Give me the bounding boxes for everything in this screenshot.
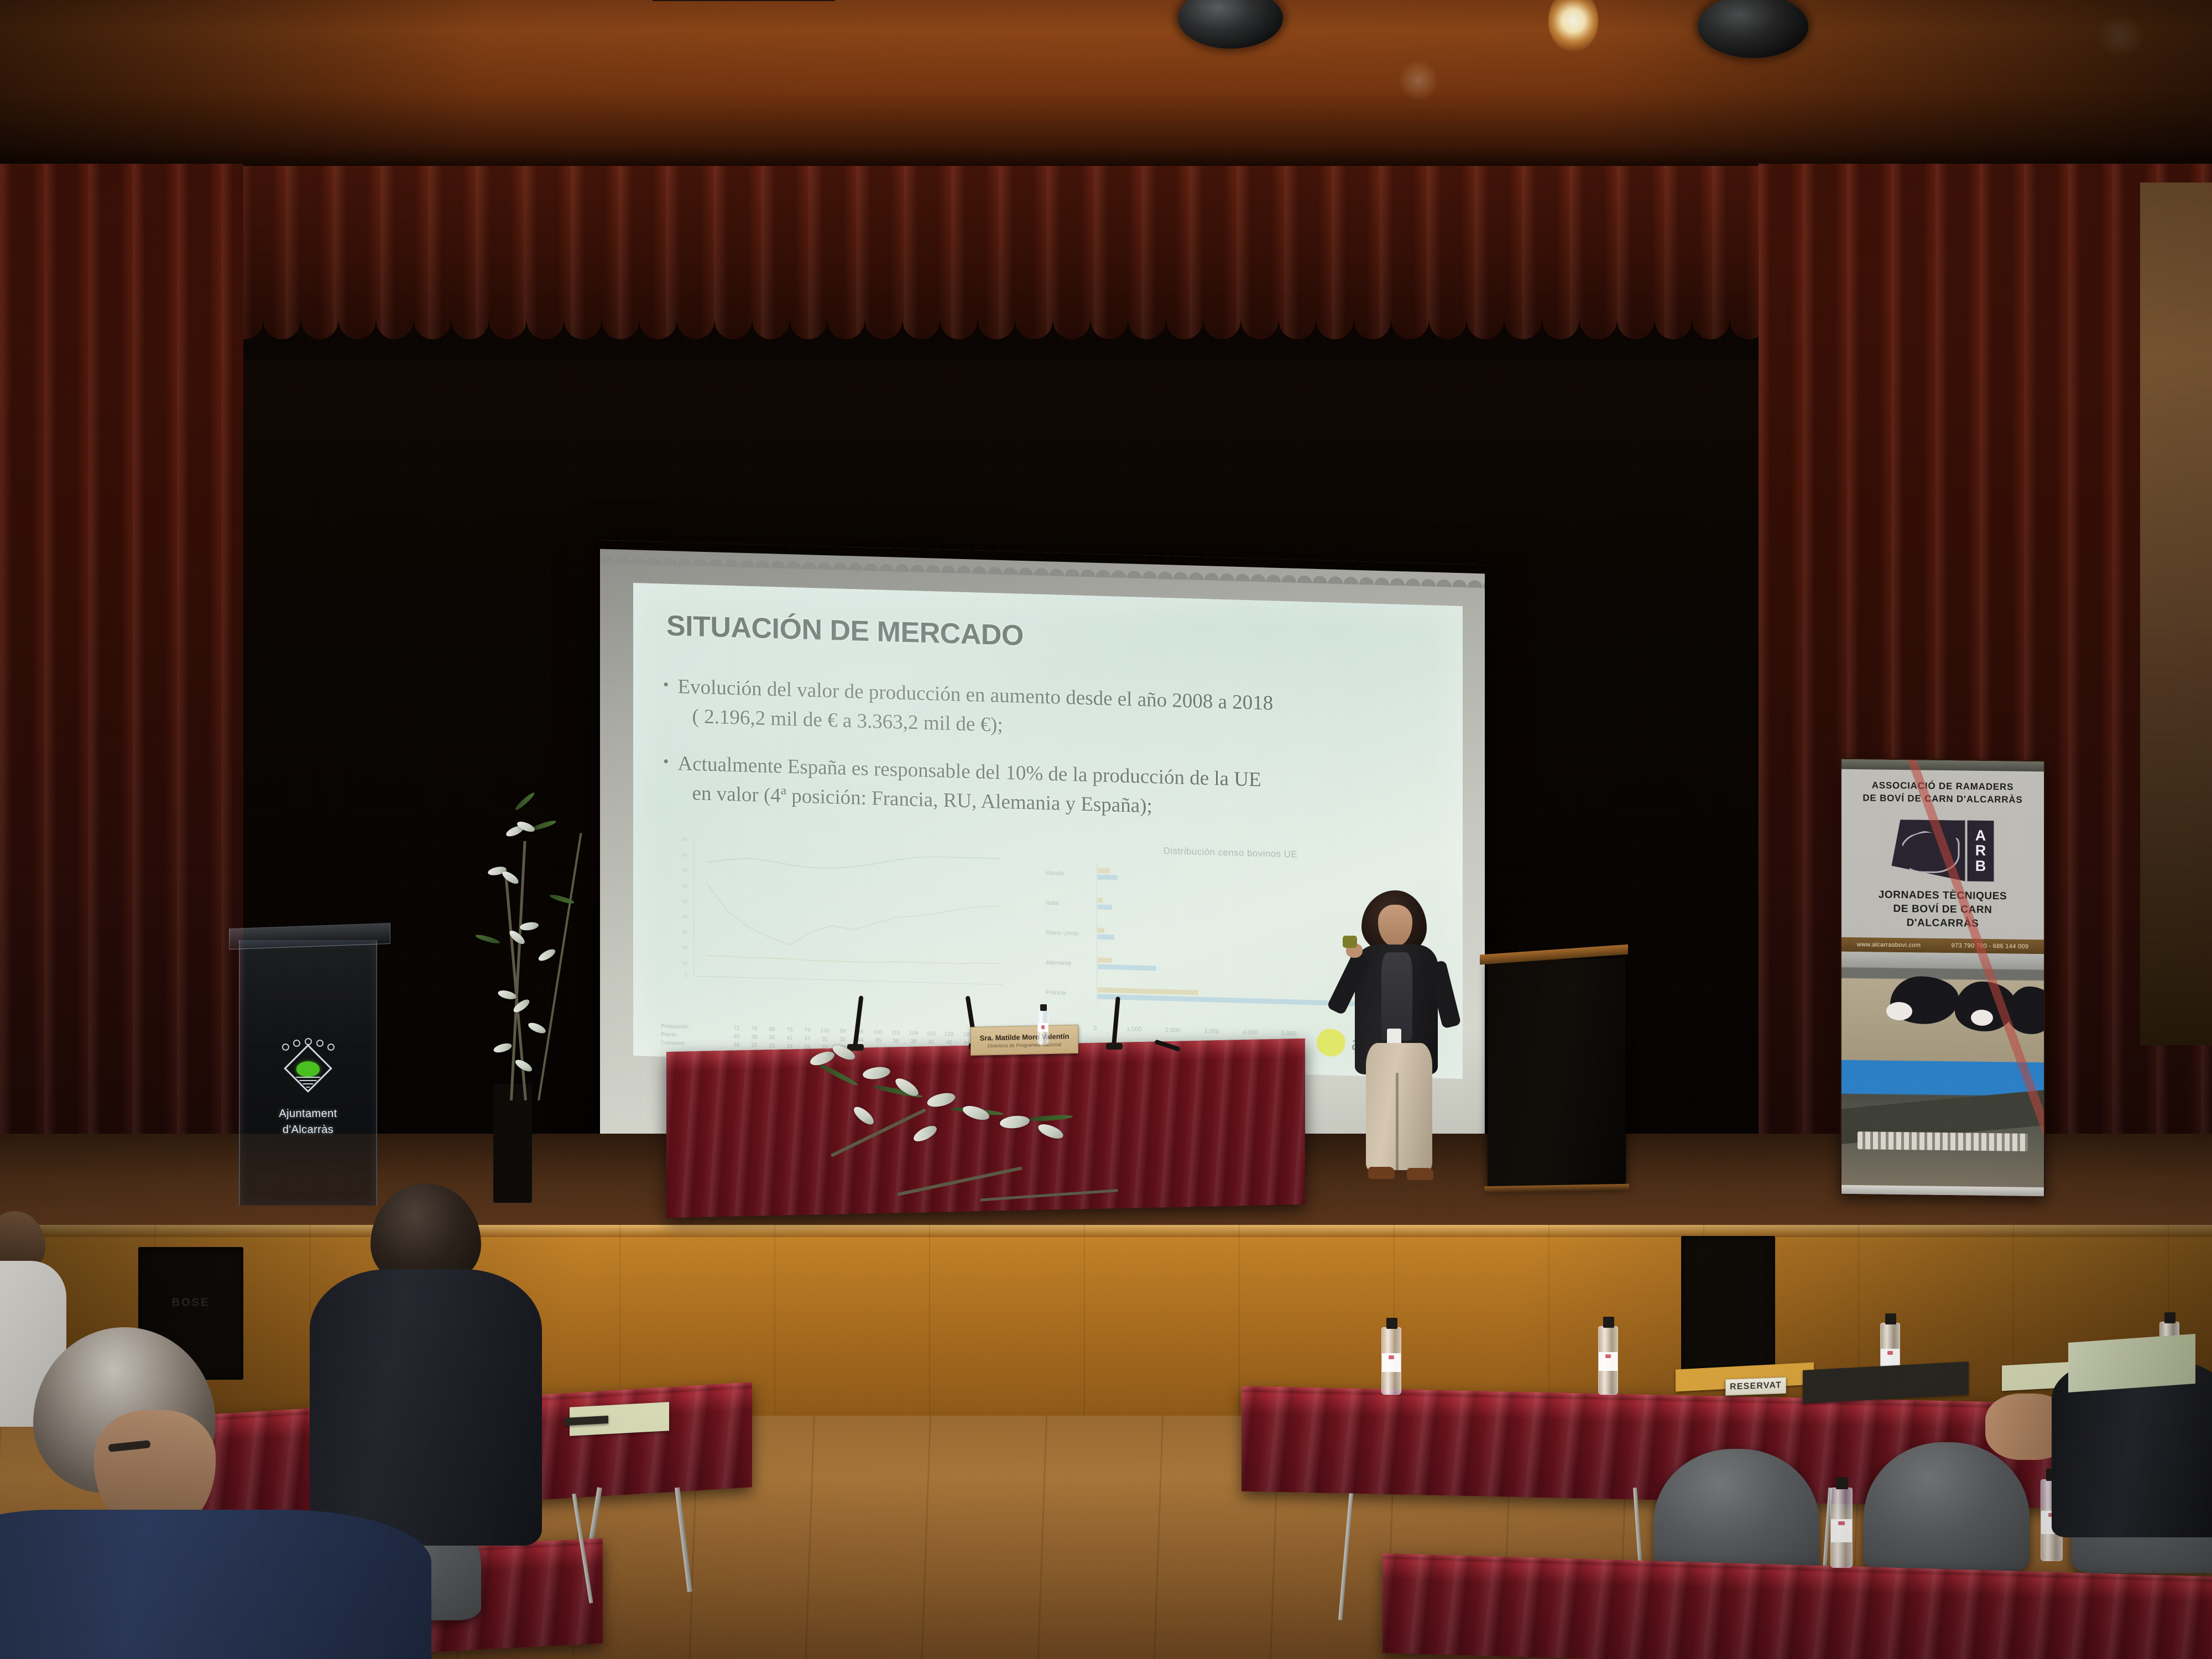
lens-flare	[2096, 17, 2146, 55]
svg-text:60: 60	[682, 883, 687, 889]
x-tick: 2.000	[1165, 1027, 1181, 1034]
bar-category-label: Alemania	[1046, 959, 1071, 967]
conference-hall-photo: SITUACIÓN DE MERCADO • Evolución del val…	[0, 0, 2212, 1659]
bar-category-label: Irlanda	[1046, 870, 1065, 877]
bar-series-2019	[1098, 935, 1114, 940]
presenter-shoe	[1407, 1168, 1433, 1180]
banner-phones: 973 790 790 - 686 144 009	[1952, 942, 2029, 950]
flower-leaf	[475, 933, 501, 945]
bottle-cap	[1386, 1318, 1397, 1329]
flower-petal	[1036, 1121, 1065, 1142]
bar-series-2018	[1098, 958, 1112, 963]
presenter-shoe	[1368, 1167, 1395, 1179]
arb-letter-a: A	[1975, 828, 1986, 843]
bottle-cap	[1040, 1004, 1047, 1011]
flower-petal	[537, 947, 557, 963]
cell: 26	[728, 1041, 745, 1050]
flower-leaf	[817, 1062, 859, 1088]
row-label: Consumo	[661, 1039, 727, 1048]
alcarras-crest-icon	[278, 1037, 338, 1098]
bullet-text: Actualmente España es responsable del 10…	[678, 749, 1432, 828]
bottle-label	[1382, 1353, 1401, 1372]
bottle-label	[1881, 1349, 1900, 1368]
cell: 25	[746, 1041, 763, 1050]
crest-tree-icon	[296, 1061, 320, 1077]
lectern-line-1: Ajuntament	[279, 1108, 337, 1120]
flower-stem	[980, 1189, 1118, 1201]
bar-series-2018	[1098, 868, 1110, 874]
cell: 75	[781, 1026, 798, 1035]
audience-person-right	[1985, 1371, 2212, 1593]
banner-subtitle: JORNADES TÈCNIQUES DE BOVÍ DE CARN D'ALC…	[1841, 888, 2044, 932]
crest-dot	[282, 1044, 289, 1051]
ceiling-speaker-icon	[1698, 0, 1808, 58]
cell: 38	[746, 1033, 763, 1042]
svg-text:80: 80	[682, 852, 687, 858]
flower-stem	[538, 833, 582, 1101]
presenter-person	[1349, 890, 1454, 1194]
flower-leaf	[531, 819, 557, 832]
banner-header-line-2: DE BOVÍ DE CARN D'ALCARRÀS	[1863, 792, 2022, 805]
x-tick: 4.000	[1243, 1029, 1258, 1036]
slide-title: SITUACIÓN DE MERCADO	[666, 609, 1024, 653]
flower-stem	[831, 1108, 926, 1157]
arb-letters: A R B	[1968, 821, 1994, 882]
bullet-line-2: ( 2.196,2 mil de € a 3.363,2 mil de €);	[678, 702, 1432, 752]
svg-text:10: 10	[682, 961, 687, 966]
presenter-shirt	[1381, 952, 1412, 1041]
water-bottle	[1598, 1326, 1618, 1395]
banner-footer-bar	[1841, 1185, 2044, 1196]
stage-speaker-bose	[1681, 1236, 1775, 1374]
lens-flare	[1399, 61, 1438, 100]
flower-leaf	[514, 791, 536, 811]
line-series-1	[706, 851, 1000, 873]
lectern-ajuntament: Ajuntament d'Alcarràs	[239, 940, 377, 1206]
crest-dot	[293, 1040, 300, 1047]
crest-dot	[327, 1044, 335, 1051]
arb-letter-r: R	[1975, 843, 1986, 859]
bar-chart-axis	[1097, 863, 1097, 1001]
bottle-label	[1831, 1519, 1852, 1542]
flower-petal	[493, 1042, 513, 1055]
bar-series-2019	[1098, 905, 1112, 910]
lectern-label: Ajuntament d'Alcarràs	[240, 1106, 376, 1138]
svg-text:90: 90	[682, 837, 687, 842]
flower-petal	[999, 1114, 1030, 1130]
line-chart: 9080 7060 5040 3020 100 Producción	[655, 827, 1009, 1058]
bar-series-2018	[1098, 898, 1103, 903]
line-series-3	[706, 956, 1000, 966]
cell: 36	[764, 1034, 780, 1042]
cell: 41	[781, 1034, 798, 1043]
presenter-leg-split	[1396, 1073, 1399, 1170]
speaker-brand-label: BOSE	[172, 1296, 210, 1309]
banner-header-line-1: ASSOCIACIÓ DE RAMADERS	[1872, 780, 2014, 792]
banner-website: www.alcarrasbovi.com	[1857, 941, 1921, 948]
ceiling-speaker-icon	[1178, 0, 1283, 49]
ceiling	[0, 0, 2212, 166]
presenter-clicker	[1343, 936, 1357, 948]
flower-petal	[500, 869, 520, 886]
flower-petal	[527, 1021, 547, 1036]
bullet-line-2: en valor (4ª posición: Francia, RU, Alem…	[678, 779, 1432, 829]
bottle-cap	[1603, 1317, 1614, 1328]
x-tick: 5.000	[1281, 1030, 1297, 1037]
slide-bullet-list: • Evolución del valor de producción en a…	[663, 672, 1432, 848]
bottle-cap	[2164, 1312, 2176, 1323]
flower-petal	[926, 1091, 957, 1109]
banner-top-bar	[1841, 759, 2044, 771]
cell: 78	[746, 1025, 763, 1034]
cell: 80	[764, 1025, 780, 1034]
slide-bullet-item: • Evolución del valor de producción en a…	[663, 672, 1432, 752]
rollup-banner-arb: ASSOCIACIÓ DE RAMADERS DE BOVÍ DE CARN D…	[1840, 758, 2045, 1198]
logo-blob-icon	[1317, 1029, 1345, 1057]
flower-petal	[862, 1066, 891, 1081]
bar-category-label: Reino Unido	[1046, 930, 1079, 937]
bottle-cap	[1836, 1477, 1848, 1489]
flower-leaf	[1029, 1114, 1073, 1122]
svg-text:0: 0	[684, 973, 687, 978]
banner-header: ASSOCIACIÓ DE RAMADERS DE BOVÍ DE CARN D…	[1841, 779, 2044, 807]
cell: 45	[728, 1032, 745, 1041]
banner-sub-line-2: DE BOVÍ DE CARN	[1893, 903, 1992, 916]
bar-category-label: Italia	[1046, 900, 1058, 907]
arb-letter-b: B	[1975, 858, 1986, 874]
bottle-cap	[1885, 1313, 1896, 1324]
papers-on-table	[2068, 1334, 2195, 1392]
water-bottle	[1381, 1327, 1401, 1395]
flower-petal	[831, 1042, 857, 1062]
stage-curtain-left	[0, 164, 243, 1203]
ceiling-light-icon	[1548, 0, 1598, 53]
farm-shed-row	[1858, 1131, 2027, 1151]
lectern-line-2: d'Alcarràs	[283, 1124, 333, 1136]
svg-text:50: 50	[682, 899, 687, 904]
flower-petal	[961, 1103, 991, 1123]
bottle-label	[1599, 1352, 1618, 1371]
svg-text:70: 70	[682, 868, 687, 873]
bullet-dot-icon: •	[663, 672, 669, 731]
line-series-2	[706, 883, 1000, 951]
flower-stem	[897, 1166, 1022, 1196]
flower-petal	[851, 1104, 877, 1128]
bullet-dot-icon: •	[663, 749, 669, 807]
x-tick: 3.000	[1204, 1028, 1219, 1035]
svg-text:30: 30	[682, 930, 687, 935]
flower-petal	[519, 921, 539, 932]
bar-series-2018	[1098, 928, 1104, 933]
banner-photo-farm	[1841, 1060, 2044, 1190]
bullet-text: Evolución del valor de producción en aum…	[678, 672, 1432, 752]
water-bottle	[1830, 1488, 1853, 1568]
flower-arrangement-left	[455, 774, 620, 1206]
flower-petal	[911, 1123, 939, 1144]
flower-arrangement-front	[796, 1029, 1139, 1200]
person-blue-shirt	[0, 1510, 431, 1659]
reserved-sign: RESERVAT	[1725, 1377, 1786, 1396]
bar-category-label: Francia	[1046, 989, 1066, 997]
line-chart-svg: 9080 7060 5040 3020 100	[655, 827, 1009, 1019]
svg-text:40: 40	[682, 914, 687, 920]
podium-right	[1488, 958, 1626, 1187]
bar-series-2019	[1098, 964, 1156, 971]
crest-dot	[316, 1040, 324, 1047]
svg-text:20: 20	[682, 945, 687, 951]
audience-person-foreground	[0, 1344, 437, 1659]
slide-bullet-item: • Actualmente España es responsable del …	[663, 749, 1432, 829]
cell: 72	[728, 1024, 745, 1033]
presenter-trousers	[1366, 1043, 1432, 1170]
bar-series-2019	[1098, 875, 1118, 880]
banner-sub-line-1: JORNADES TÈCNIQUES	[1879, 889, 2007, 902]
ceiling-panel	[653, 0, 835, 1]
side-wall	[2140, 182, 2212, 1045]
